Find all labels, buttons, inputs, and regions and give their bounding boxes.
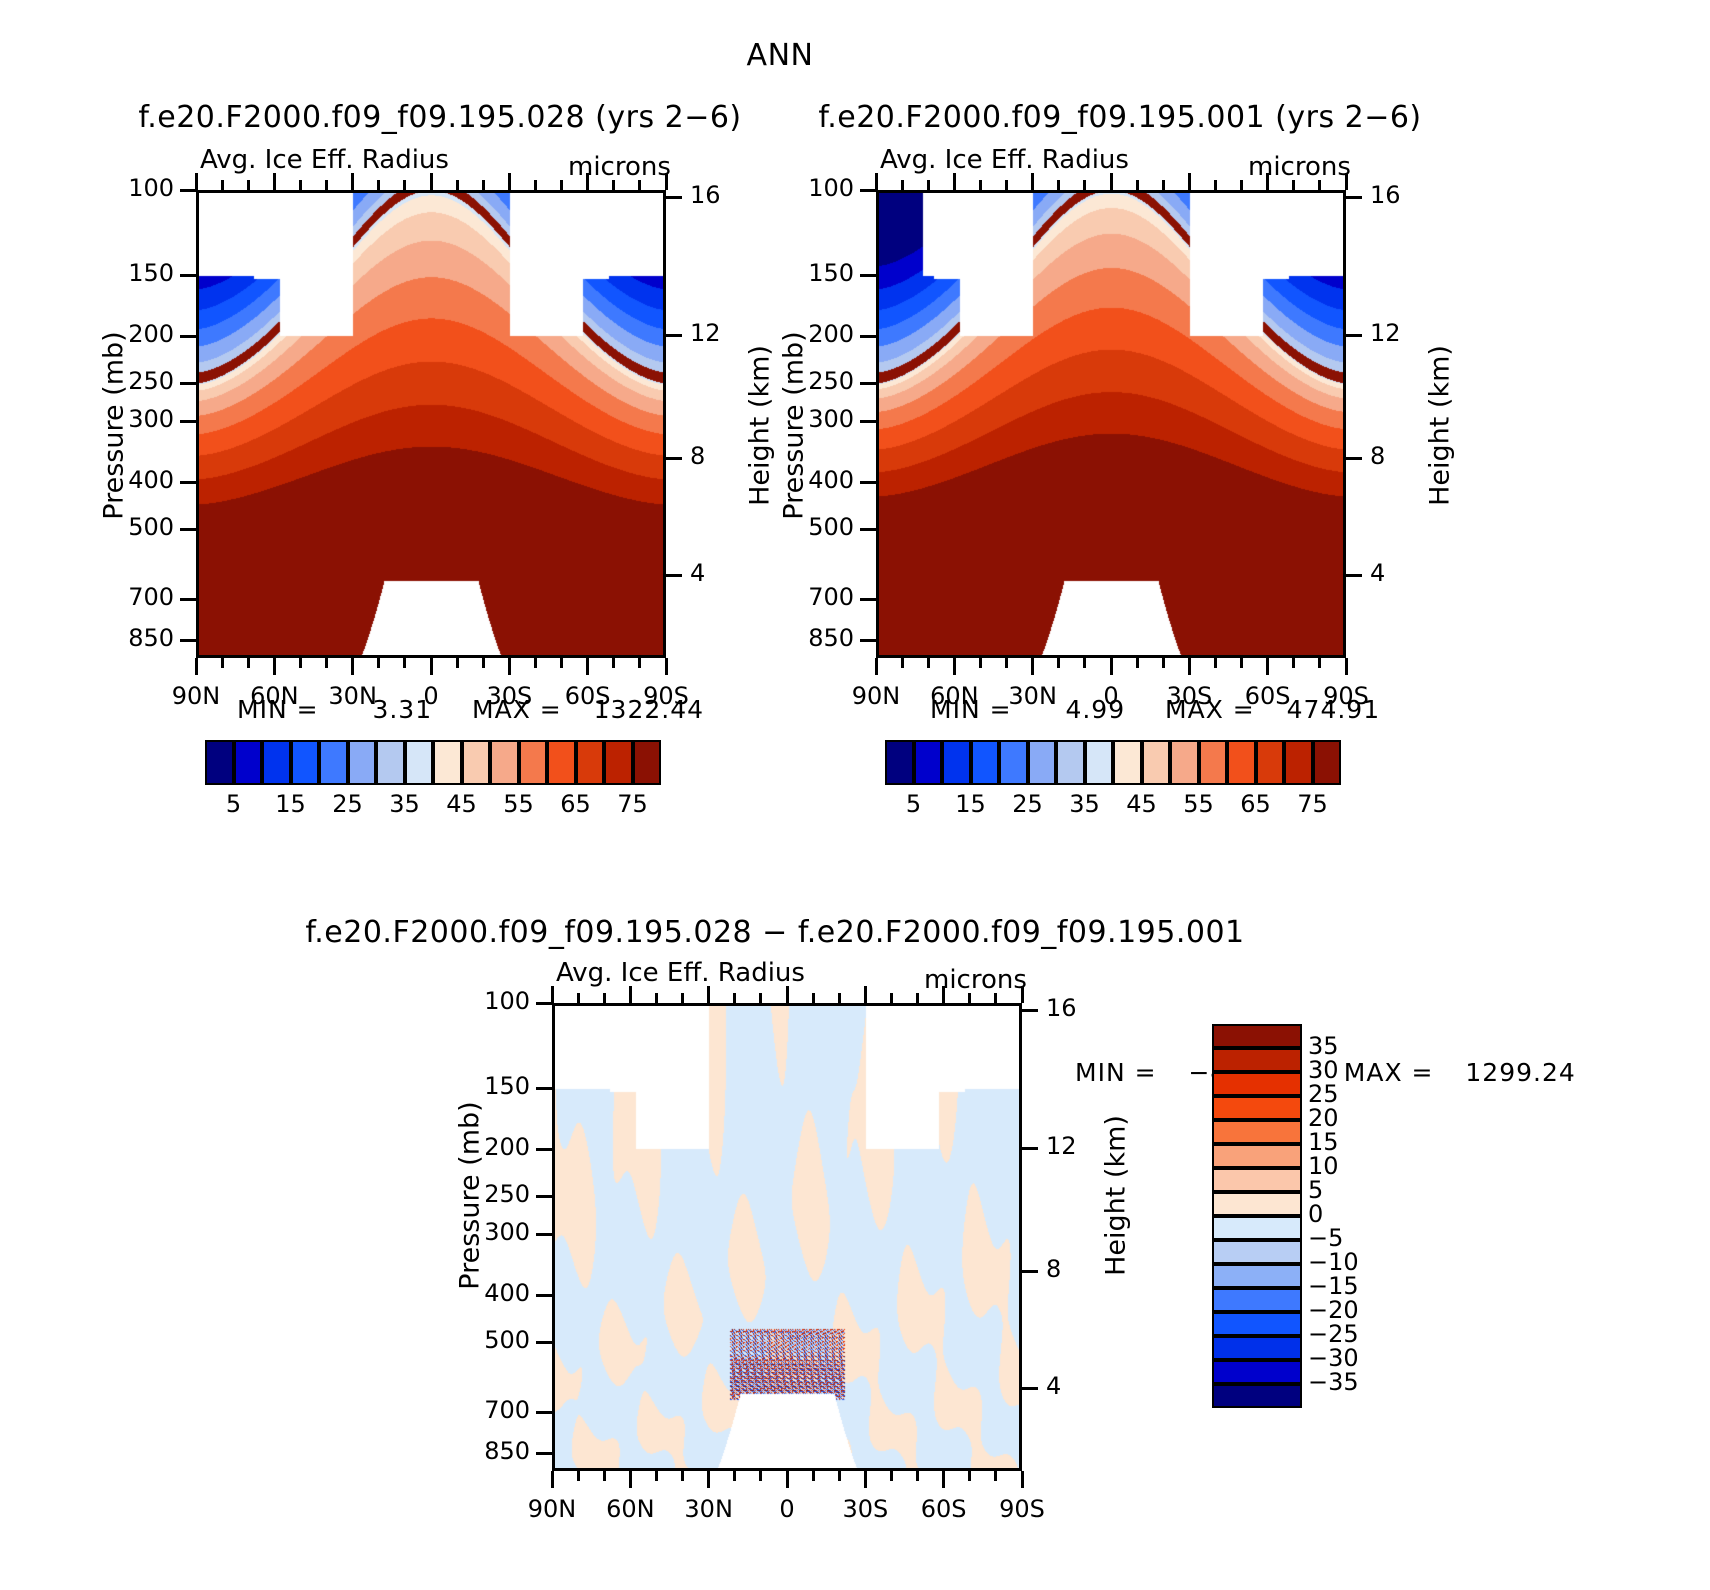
panel-difference-xtick-bot (968, 1471, 971, 1481)
panel-control-xtick-bot (1162, 658, 1165, 668)
panel-control-y2tick (1346, 196, 1362, 199)
colorbar-swatch[interactable] (348, 740, 377, 785)
panel-control-y2tick-label: 16 (1370, 181, 1401, 209)
panel-test-xtick-label: 30N (308, 682, 398, 710)
colorbar-swatch[interactable] (1284, 740, 1313, 785)
panel-difference-xtick-bot (681, 1471, 684, 1481)
panel-test-xtick-bot (560, 658, 563, 668)
panel-control-ytick (860, 420, 876, 423)
panel-control-xtick-bot (1110, 658, 1113, 675)
panel-difference-ytick-label: 500 (448, 1326, 530, 1354)
panel-test-xtick-bot (612, 658, 615, 668)
panel-control-xtick-label: 90S (1301, 682, 1391, 710)
colorbar-swatch[interactable] (205, 740, 234, 785)
panel-test-xtick-label: 90S (621, 682, 711, 710)
panel-control-xtick-top (953, 173, 956, 190)
panel-control-xtick-top (1083, 180, 1086, 190)
colorbar-swatch[interactable] (262, 740, 291, 785)
colorbar-swatch[interactable] (490, 740, 519, 785)
panel-difference-ytick (536, 1341, 552, 1344)
panel-test-xtick-bot (403, 658, 406, 668)
panel-control-xtick-bot (901, 658, 904, 668)
colorbar-swatch[interactable] (1199, 740, 1228, 785)
panel-difference-xtick-bot (838, 1471, 841, 1481)
colorbar-swatch[interactable] (1212, 1192, 1302, 1216)
panel-difference-xtick-bot (1021, 1471, 1024, 1488)
panel-test-xtick-bot (351, 658, 354, 675)
panel-difference-xtick-label: 0 (742, 1495, 832, 1523)
panel-control-xtick-top (1110, 173, 1113, 190)
panel-difference-frame (552, 1003, 1022, 1471)
panel-control-ytick-label: 300 (772, 405, 854, 433)
panel-test-xtick-top (665, 173, 668, 190)
panel-control-y2tick (1346, 457, 1362, 460)
panel-control-y2tick-label: 12 (1370, 319, 1401, 347)
panel-test-ytick (180, 481, 196, 484)
panel-test-xtick-top (560, 180, 563, 190)
panel-test-xtick-top (430, 173, 433, 190)
colorbar-tick-label: 75 (1278, 790, 1348, 818)
colorbar-swatch[interactable] (405, 740, 434, 785)
panel-difference-xtick-bot (890, 1471, 893, 1481)
panel-difference-min-label: MIN = (1075, 1058, 1157, 1087)
panel-control-ytick-label: 500 (772, 513, 854, 541)
panel-test-y2tick (666, 574, 682, 577)
colorbar-swatch[interactable] (1212, 1024, 1302, 1048)
panel-difference-ytick-label: 100 (448, 987, 530, 1015)
panel-difference-xtick-bot (707, 1471, 710, 1488)
panel-difference-xtick-bot (551, 1471, 554, 1488)
colorbar-swatch[interactable] (1056, 740, 1085, 785)
panel-test-title: f.e20.F2000.f09_f09.195.028 (yrs 2−6) (60, 100, 820, 135)
panel-test-xtick-bot (273, 658, 276, 675)
panel-test-xtick-bot (299, 658, 302, 668)
panel-test-xtick-bot (456, 658, 459, 668)
panel-test-xtick-label: 30S (464, 682, 554, 710)
panel-control-xtick-bot (1188, 658, 1191, 675)
colorbar-swatch[interactable] (999, 740, 1028, 785)
colorbar-swatch[interactable] (1227, 740, 1256, 785)
colorbar-swatch[interactable] (1212, 1096, 1302, 1120)
panel-control-ytick-label: 100 (772, 174, 854, 202)
panel-control-y2tick (1346, 334, 1362, 337)
panel-control-frame (876, 190, 1346, 658)
panel-control-ytick (860, 335, 876, 338)
panel-test-xtick-top (638, 180, 641, 190)
panel-difference-xtick-label: 30N (664, 1495, 754, 1523)
panel-control-xtick-top (979, 180, 982, 190)
panel-difference-xtick-top (551, 986, 554, 1003)
colorbar-swatch[interactable] (1212, 1336, 1302, 1360)
panel-control-y2tick-label: 8 (1370, 442, 1385, 470)
panel-control-xtick-bot (1083, 658, 1086, 668)
colorbar-swatch[interactable] (1212, 1384, 1302, 1408)
panel-test-ytick-label: 250 (92, 367, 174, 395)
panel-control-xtick-bot (1031, 658, 1034, 675)
panel-test-ytick (180, 335, 196, 338)
panel-control-xtick-top (1188, 173, 1191, 190)
panel-difference-variable: Avg. Ice Eff. Radius (556, 958, 805, 988)
panel-control-ytick (860, 382, 876, 385)
panel-control-colorbar[interactable] (885, 740, 1341, 785)
panel-difference-xtick-top (733, 993, 736, 1003)
panel-control-ytick (860, 598, 876, 601)
panel-difference-xtick-top (707, 986, 710, 1003)
panel-test-xtick-bot (325, 658, 328, 668)
panel-control-ytick-label: 400 (772, 466, 854, 494)
colorbar-swatch[interactable] (576, 740, 605, 785)
colorbar-swatch[interactable] (1313, 740, 1342, 785)
panel-control-xtick-top (1005, 180, 1008, 190)
panel-difference-y2tick-label: 12 (1046, 1132, 1077, 1160)
panel-test-xtick-label: 90N (151, 682, 241, 710)
panel-difference-ytick-label: 850 (448, 1437, 530, 1465)
panel-control-ytick-label: 250 (772, 367, 854, 395)
panel-control-ytick-label: 850 (772, 624, 854, 652)
panel-difference-xtick-bot (629, 1471, 632, 1488)
colorbar-swatch[interactable] (1170, 740, 1199, 785)
panel-test-ytick (180, 639, 196, 642)
panel-control-xtick-bot (875, 658, 878, 675)
colorbar-swatch[interactable] (1212, 1288, 1302, 1312)
colorbar-swatch[interactable] (942, 740, 971, 785)
panel-test-y2tick (666, 334, 682, 337)
colorbar-swatch[interactable] (1085, 740, 1114, 785)
colorbar-swatch[interactable] (1212, 1240, 1302, 1264)
colorbar-swatch[interactable] (519, 740, 548, 785)
panel-test-y2tick-label: 16 (690, 181, 721, 209)
colorbar-tick-label: 75 (598, 790, 668, 818)
panel-test-ytick (180, 274, 196, 277)
panel-difference-ytick (536, 1294, 552, 1297)
panel-control-xtick-bot (1057, 658, 1060, 668)
panel-test-y2tick (666, 196, 682, 199)
panel-test-ytick-label: 850 (92, 624, 174, 652)
panel-difference-xtick-top (786, 986, 789, 1003)
panel-difference-y2tick-label: 16 (1046, 994, 1077, 1022)
panel-test-xtick-top (247, 180, 250, 190)
panel-control-ytick-label: 150 (772, 259, 854, 287)
panel-difference-ytick (536, 1411, 552, 1414)
panel-difference-xtick-label: 30S (820, 1495, 910, 1523)
panel-control-y2tick-label: 4 (1370, 559, 1385, 587)
panel-test-y2tick (666, 457, 682, 460)
panel-control-xtick-top (1266, 173, 1269, 190)
colorbar-swatch[interactable] (1028, 740, 1057, 785)
panel-control-ytick-label: 200 (772, 320, 854, 348)
panel-difference-units: microns (924, 965, 1027, 995)
colorbar-swatch[interactable] (1142, 740, 1171, 785)
panel-control-ytick (860, 274, 876, 277)
panel-test-ytick (180, 382, 196, 385)
panel-control-xtick-label: 30S (1144, 682, 1234, 710)
panel-test-xtick-bot (221, 658, 224, 668)
panel-difference-xtick-bot (942, 1471, 945, 1488)
panel-difference-xtick-bot (994, 1471, 997, 1481)
panel-difference-ytick-label: 250 (448, 1180, 530, 1208)
panel-control-y2tick (1346, 574, 1362, 577)
colorbar-swatch[interactable] (291, 740, 320, 785)
panel-control-xtick-bot (1266, 658, 1269, 675)
panel-control-xtick-top (1031, 173, 1034, 190)
panel-control-xtick-top (927, 180, 930, 190)
panel-difference-colorbar[interactable] (1212, 1024, 1302, 1408)
panel-control-xtick-top (1318, 180, 1321, 190)
panel-test-xtick-bot (482, 658, 485, 668)
panel-difference-xtick-bot (759, 1471, 762, 1481)
panel-difference-xtick-top (812, 993, 815, 1003)
colorbar-swatch[interactable] (1113, 740, 1142, 785)
panel-control-xtick-bot (1005, 658, 1008, 668)
colorbar-swatch[interactable] (1256, 740, 1285, 785)
panel-difference-colorbar-labels: 35302520151050−5−10−15−20−25−30−35 (1308, 1024, 1398, 1408)
panel-difference-y2tick (1022, 1009, 1038, 1012)
panel-test-xtick-top (403, 180, 406, 190)
panel-test-frame (196, 190, 666, 658)
panel-test-xtick-top (299, 180, 302, 190)
figure-season-title: ANN (0, 38, 1560, 73)
panel-test-y2tick-label: 8 (690, 442, 705, 470)
panel-test-ytick (180, 598, 196, 601)
panel-test-units: microns (568, 152, 671, 182)
colorbar-swatch[interactable] (433, 740, 462, 785)
panel-test-xtick-top (586, 173, 589, 190)
colorbar-swatch[interactable] (914, 740, 943, 785)
colorbar-swatch[interactable] (1212, 1312, 1302, 1336)
colorbar-tick-label: −35 (1308, 1368, 1394, 1396)
panel-control-xtick-label: 90N (831, 682, 921, 710)
panel-control-xtick-label: 60N (909, 682, 999, 710)
panel-control-ytick (860, 481, 876, 484)
panel-control-ytick-label: 700 (772, 583, 854, 611)
panel-test-xtick-top (273, 173, 276, 190)
panel-control-colorbar-labels: 515253545556575 (885, 790, 1341, 822)
panel-control-xtick-label: 0 (1066, 682, 1156, 710)
colorbar-swatch[interactable] (633, 740, 662, 785)
panel-control-xtick-top (1214, 180, 1217, 190)
panel-difference-ytick-label: 200 (448, 1133, 530, 1161)
colorbar-swatch[interactable] (234, 740, 263, 785)
panel-difference-ytick-label: 700 (448, 1396, 530, 1424)
panel-control-xtick-bot (1214, 658, 1217, 668)
panel-control-units: microns (1248, 152, 1351, 182)
panel-test-variable: Avg. Ice Eff. Radius (200, 145, 449, 175)
panel-difference-xtick-bot (603, 1471, 606, 1481)
panel-control-xtick-bot (1240, 658, 1243, 668)
panel-test-xtick-bot (430, 658, 433, 675)
panel-test-xtick-top (325, 180, 328, 190)
panel-difference-y2tick-label: 8 (1046, 1255, 1061, 1283)
colorbar-swatch[interactable] (1212, 1168, 1302, 1192)
panel-difference-xtick-bot (812, 1471, 815, 1481)
panel-control-ytick (860, 639, 876, 642)
panel-control-xtick-bot (979, 658, 982, 668)
panel-control-xtick-bot (953, 658, 956, 675)
colorbar-swatch[interactable] (1212, 1360, 1302, 1384)
colorbar-swatch[interactable] (1212, 1048, 1302, 1072)
panel-difference-xtick-bot (786, 1471, 789, 1488)
panel-difference-xtick-top (1021, 986, 1024, 1003)
panel-difference-ytick (536, 1148, 552, 1151)
panel-difference-y2tick (1022, 1147, 1038, 1150)
panel-test-xtick-label: 0 (386, 682, 476, 710)
panel-difference-y2tick (1022, 1387, 1038, 1390)
panel-test-xtick-label: 60S (543, 682, 633, 710)
colorbar-swatch[interactable] (1212, 1216, 1302, 1240)
panel-difference-xtick-bot (916, 1471, 919, 1481)
panel-difference-xtick-top (968, 993, 971, 1003)
colorbar-swatch[interactable] (1212, 1072, 1302, 1096)
colorbar-swatch[interactable] (1212, 1264, 1302, 1288)
panel-test-xtick-label: 60N (229, 682, 319, 710)
panel-difference-xtick-top (629, 986, 632, 1003)
panel-difference-xtick-top (838, 993, 841, 1003)
panel-test-y2tick-label: 4 (690, 559, 705, 587)
panel-control-xtick-bot (1292, 658, 1295, 668)
panel-test-xtick-top (534, 180, 537, 190)
panel-control-variable: Avg. Ice Eff. Radius (880, 145, 1129, 175)
panel-test-xtick-bot (247, 658, 250, 668)
panel-test-ytick (180, 528, 196, 531)
panel-test-xtick-top (482, 180, 485, 190)
panel-difference-ytick (536, 1233, 552, 1236)
panel-difference-xtick-bot (733, 1471, 736, 1481)
panel-difference-max-value: 1299.24 (1465, 1058, 1575, 1087)
panel-test-xtick-bot (377, 658, 380, 668)
panel-test-ytick-label: 300 (92, 405, 174, 433)
panel-control-xtick-bot (927, 658, 930, 668)
panel-test-ytick-label: 150 (92, 259, 174, 287)
panel-test-ytick-label: 700 (92, 583, 174, 611)
panel-control-xtick-top (1240, 180, 1243, 190)
panel-control-xtick-bot (1318, 658, 1321, 668)
panel-test-colorbar[interactable] (205, 740, 661, 785)
panel-difference-ytick-label: 300 (448, 1218, 530, 1246)
panel-test-xtick-bot (534, 658, 537, 668)
panel-difference-title: f.e20.F2000.f09_f09.195.028 − f.e20.F200… (160, 915, 1390, 950)
panel-test-xtick-top (195, 173, 198, 190)
colorbar-swatch[interactable] (547, 740, 576, 785)
panel-test-ytick (180, 420, 196, 423)
colorbar-swatch[interactable] (319, 740, 348, 785)
panel-control-xtick-label: 60S (1223, 682, 1313, 710)
panel-control-title: f.e20.F2000.f09_f09.195.001 (yrs 2−6) (740, 100, 1500, 135)
panel-difference-ytick (536, 1087, 552, 1090)
panel-test-xtick-bot (638, 658, 641, 668)
colorbar-swatch[interactable] (376, 740, 405, 785)
panel-control-xtick-top (1292, 180, 1295, 190)
panel-test-xtick-top (508, 173, 511, 190)
panel-control-xtick-top (1136, 180, 1139, 190)
panel-difference-xtick-label: 90N (507, 1495, 597, 1523)
panel-difference-xtick-bot (577, 1471, 580, 1481)
panel-difference-xtick-top (942, 986, 945, 1003)
panel-difference-xtick-label: 60N (585, 1495, 675, 1523)
panel-test-xtick-top (351, 173, 354, 190)
panel-difference-xtick-top (681, 993, 684, 1003)
panel-difference-xtick-top (655, 993, 658, 1003)
panel-control-xtick-top (875, 173, 878, 190)
panel-difference-y2tick (1022, 1270, 1038, 1273)
panel-difference-xtick-bot (655, 1471, 658, 1481)
colorbar-swatch[interactable] (1212, 1144, 1302, 1168)
panel-difference-xtick-label: 60S (899, 1495, 989, 1523)
panel-test-y2tick-label: 12 (690, 319, 721, 347)
panel-difference-xtick-top (759, 993, 762, 1003)
panel-test-ytick-label: 400 (92, 466, 174, 494)
panel-test-colorbar-labels: 515253545556575 (205, 790, 661, 822)
panel-test-ytick-label: 500 (92, 513, 174, 541)
colorbar-swatch[interactable] (1212, 1120, 1302, 1144)
panel-control-xtick-top (1057, 180, 1060, 190)
panel-control-xtick-bot (1345, 658, 1348, 675)
panel-control-y2label: Height (km) (1425, 306, 1456, 546)
panel-difference-xtick-top (916, 993, 919, 1003)
panel-test-xtick-top (377, 180, 380, 190)
panel-control-xtick-top (1345, 173, 1348, 190)
panel-difference-xtick-top (890, 993, 893, 1003)
panel-difference-xtick-top (864, 986, 867, 1003)
panel-difference-xtick-top (994, 993, 997, 1003)
panel-difference-y2tick-label: 4 (1046, 1372, 1061, 1400)
panel-difference-ytick-label: 150 (448, 1072, 530, 1100)
panel-difference-ytick-label: 400 (448, 1279, 530, 1307)
panel-difference-ytick (536, 1452, 552, 1455)
panel-difference-xtick-label: 90S (977, 1495, 1067, 1523)
panel-test-xtick-bot (665, 658, 668, 675)
panel-test-ytick-label: 100 (92, 174, 174, 202)
panel-control-xtick-bot (1136, 658, 1139, 668)
panel-difference-ytick (536, 1195, 552, 1198)
colorbar-swatch[interactable] (462, 740, 491, 785)
panel-test-xtick-top (456, 180, 459, 190)
panel-control-xtick-top (1162, 180, 1165, 190)
panel-control-ytick (860, 528, 876, 531)
panel-test-xtick-top (612, 180, 615, 190)
panel-difference-xtick-top (577, 993, 580, 1003)
panel-difference-xtick-top (603, 993, 606, 1003)
panel-control-xtick-top (901, 180, 904, 190)
panel-test-xtick-bot (195, 658, 198, 675)
colorbar-swatch[interactable] (604, 740, 633, 785)
panel-difference-y2label: Height (km) (1101, 1076, 1132, 1316)
panel-control-xtick-label: 30N (988, 682, 1078, 710)
panel-test-ytick-label: 200 (92, 320, 174, 348)
panel-test-xtick-top (221, 180, 224, 190)
panel-test-xtick-bot (586, 658, 589, 675)
colorbar-swatch[interactable] (971, 740, 1000, 785)
colorbar-swatch[interactable] (885, 740, 914, 785)
panel-test-xtick-bot (508, 658, 511, 675)
panel-test-y2label: Height (km) (745, 306, 776, 546)
panel-difference-xtick-bot (864, 1471, 867, 1488)
